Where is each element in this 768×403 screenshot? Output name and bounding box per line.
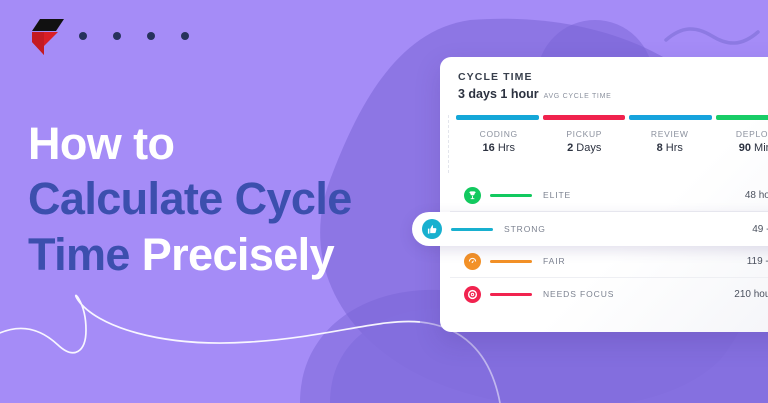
headline-line-2: Calculate Cycle: [28, 171, 428, 226]
stage-column: REVIEW8 Hrs: [627, 129, 713, 154]
tier-row[interactable]: ELITE48 hours or less: [450, 179, 768, 212]
stage-divider: [448, 115, 449, 173]
stage-value: 8 Hrs: [627, 142, 713, 154]
tier-value: 48 hours or less: [745, 190, 768, 201]
stage-value-unit: Hrs: [663, 142, 683, 154]
stage-value: 90 Min: [713, 142, 768, 154]
headline-line-3-accent: Time: [28, 229, 130, 280]
stage-value-unit: Min: [751, 142, 768, 154]
avg-cycle-time-label: AVG CYCLE TIME: [544, 93, 612, 100]
logo-black-shape: [32, 19, 64, 31]
tier-label: STRONG: [504, 224, 546, 234]
hero-banner: How to Calculate Cycle Time Precisely CY…: [0, 0, 768, 403]
stage-name: REVIEW: [627, 129, 713, 139]
thumbs-up-icon-glyph: [427, 224, 438, 235]
logo-dots: [79, 32, 189, 40]
gauge-icon: [464, 253, 481, 270]
target-icon: [464, 286, 481, 303]
headline-line-3: Time Precisely: [28, 227, 428, 282]
tier-row[interactable]: NEEDS FOCUS210 hours or more: [450, 278, 768, 310]
page-title: How to Calculate Cycle Time Precisely: [28, 116, 428, 282]
thinkfast-t-logo: [18, 16, 66, 56]
stage-bar: [543, 115, 626, 120]
tier-value: 210 hours or more: [734, 289, 768, 300]
stage-value-unit: Days: [573, 142, 601, 154]
tier-color-line: [451, 228, 493, 231]
stage-bar: [456, 115, 539, 120]
stage-bar-track: [448, 115, 768, 120]
tier-row[interactable]: FAIR119 - 209 hours: [450, 245, 768, 278]
cycle-time-card: CYCLE TIME 3 days 1 hour AVG CYCLE TIME …: [440, 57, 768, 332]
squiggle-wave-decoration: [666, 29, 758, 43]
brand-logo-row: [18, 16, 189, 56]
stage-value-number: 90: [739, 142, 751, 154]
stage-label-row: CODING16 HrsPICKUP2 DaysREVIEW8 HrsDEPLO…: [448, 129, 768, 154]
stage-bar: [629, 115, 712, 120]
stage-value: 2 Days: [542, 142, 628, 154]
stage-column: CODING16 Hrs: [456, 129, 542, 154]
stage-breakdown: CODING16 HrsPICKUP2 DaysREVIEW8 HrsDEPLO…: [440, 115, 768, 169]
tier-value: 49 - 118 hours: [752, 224, 768, 235]
logo-dot: [113, 32, 121, 40]
stage-value-unit: Hrs: [495, 142, 515, 154]
trophy-icon: [464, 187, 481, 204]
headline-line-1: How to: [28, 116, 428, 171]
thumbs-up-icon: [422, 219, 442, 239]
tier-row-highlighted[interactable]: STRONG49 - 118 hoursYour team: [412, 212, 768, 246]
tier-label: FAIR: [543, 256, 566, 266]
card-title: CYCLE TIME: [458, 71, 768, 83]
card-summary: 3 days 1 hour AVG CYCLE TIME: [458, 87, 768, 101]
stage-name: CODING: [456, 129, 542, 139]
tier-label: ELITE: [543, 190, 571, 200]
tier-color-line: [490, 194, 532, 197]
tier-color-line: [490, 260, 532, 263]
stage-column: PICKUP2 Days: [542, 129, 628, 154]
tier-value: 119 - 209 hours: [747, 256, 768, 267]
stage-name: DEPLOY: [713, 129, 768, 139]
tier-list: ELITE48 hours or less STRONG49 - 118 hou…: [450, 179, 768, 310]
logo-dot: [181, 32, 189, 40]
target-icon-glyph: [467, 289, 478, 300]
avg-cycle-time-value: 3 days 1 hour: [458, 87, 539, 101]
trophy-icon-glyph: [467, 190, 478, 201]
stage-bar: [716, 115, 768, 120]
headline-line-3-rest: Precisely: [130, 229, 334, 280]
stage-column: DEPLOY90 Min: [713, 129, 768, 154]
logo-dot: [147, 32, 155, 40]
stage-name: PICKUP: [542, 129, 628, 139]
logo-dot: [79, 32, 87, 40]
tier-color-line: [490, 293, 532, 296]
card-header: CYCLE TIME 3 days 1 hour AVG CYCLE TIME: [440, 57, 768, 111]
stage-value-number: 16: [483, 142, 495, 154]
stage-value: 16 Hrs: [456, 142, 542, 154]
gauge-icon-glyph: [467, 256, 478, 267]
logo-red-stem: [32, 32, 44, 55]
tier-label: NEEDS FOCUS: [543, 289, 614, 299]
